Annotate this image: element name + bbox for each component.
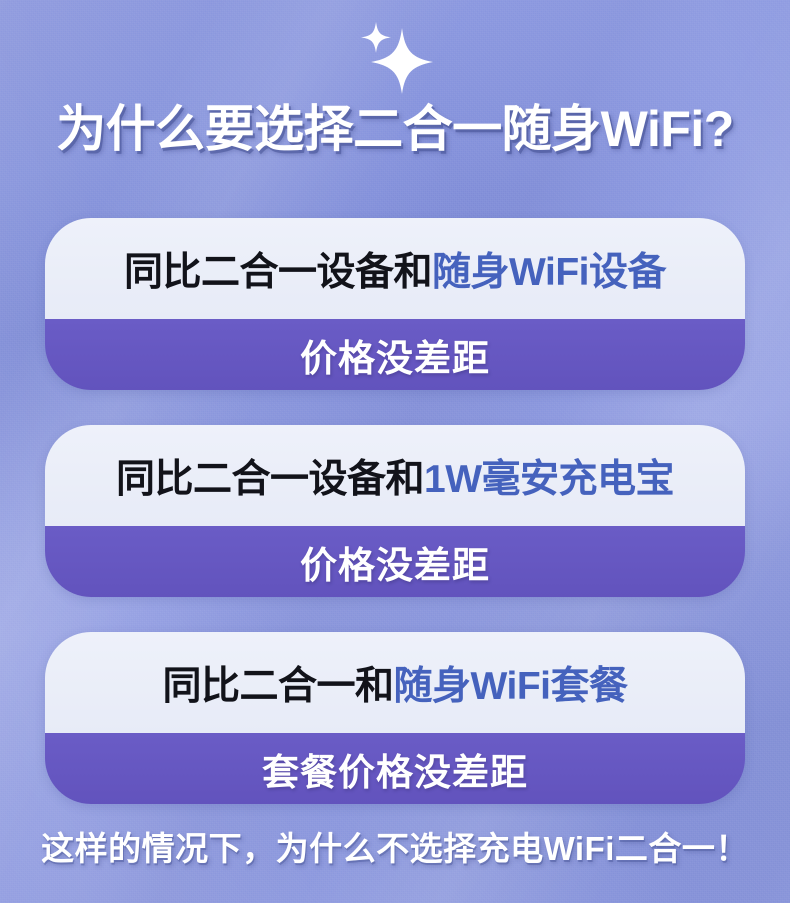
benefit-card-headline: 同比二合一设备和随身WiFi设备 bbox=[45, 218, 745, 319]
benefit-card-conclusion: 价格没差距 bbox=[45, 526, 745, 597]
benefit-card: 同比二合一设备和随身WiFi设备 价格没差距 bbox=[45, 218, 745, 390]
benefit-card-headline-accent: 随身WiFi套餐 bbox=[394, 655, 628, 711]
benefit-card-headline-dark: 同比二合一设备和 bbox=[116, 448, 424, 504]
benefit-card-headline: 同比二合一设备和1W毫安充电宝 bbox=[45, 425, 745, 526]
benefit-card: 同比二合一设备和1W毫安充电宝 价格没差距 bbox=[45, 425, 745, 597]
benefit-card-headline-accent: 1W毫安充电宝 bbox=[424, 448, 674, 504]
benefit-card-list: 同比二合一设备和随身WiFi设备 价格没差距 同比二合一设备和1W毫安充电宝 价… bbox=[45, 218, 745, 804]
page-title: 为什么要选择二合一随身WiFi? bbox=[0, 100, 790, 158]
benefit-card-headline: 同比二合一和随身WiFi套餐 bbox=[45, 632, 745, 733]
benefit-card-headline-dark: 同比二合一设备和 bbox=[124, 241, 432, 297]
benefit-card-conclusion: 套餐价格没差距 bbox=[45, 733, 745, 804]
benefit-card-headline-accent: 随身WiFi设备 bbox=[432, 241, 666, 297]
promo-poster: 为什么要选择二合一随身WiFi? 同比二合一设备和随身WiFi设备 价格没差距 … bbox=[0, 0, 790, 903]
sparkle-star-icon bbox=[352, 18, 438, 96]
benefit-card-headline-dark: 同比二合一和 bbox=[163, 655, 394, 711]
closing-callout: 这样的情况下，为什么不选择充电WiFi二合一！ bbox=[0, 827, 790, 871]
benefit-card: 同比二合一和随身WiFi套餐 套餐价格没差距 bbox=[45, 632, 745, 804]
benefit-card-conclusion: 价格没差距 bbox=[45, 319, 745, 390]
